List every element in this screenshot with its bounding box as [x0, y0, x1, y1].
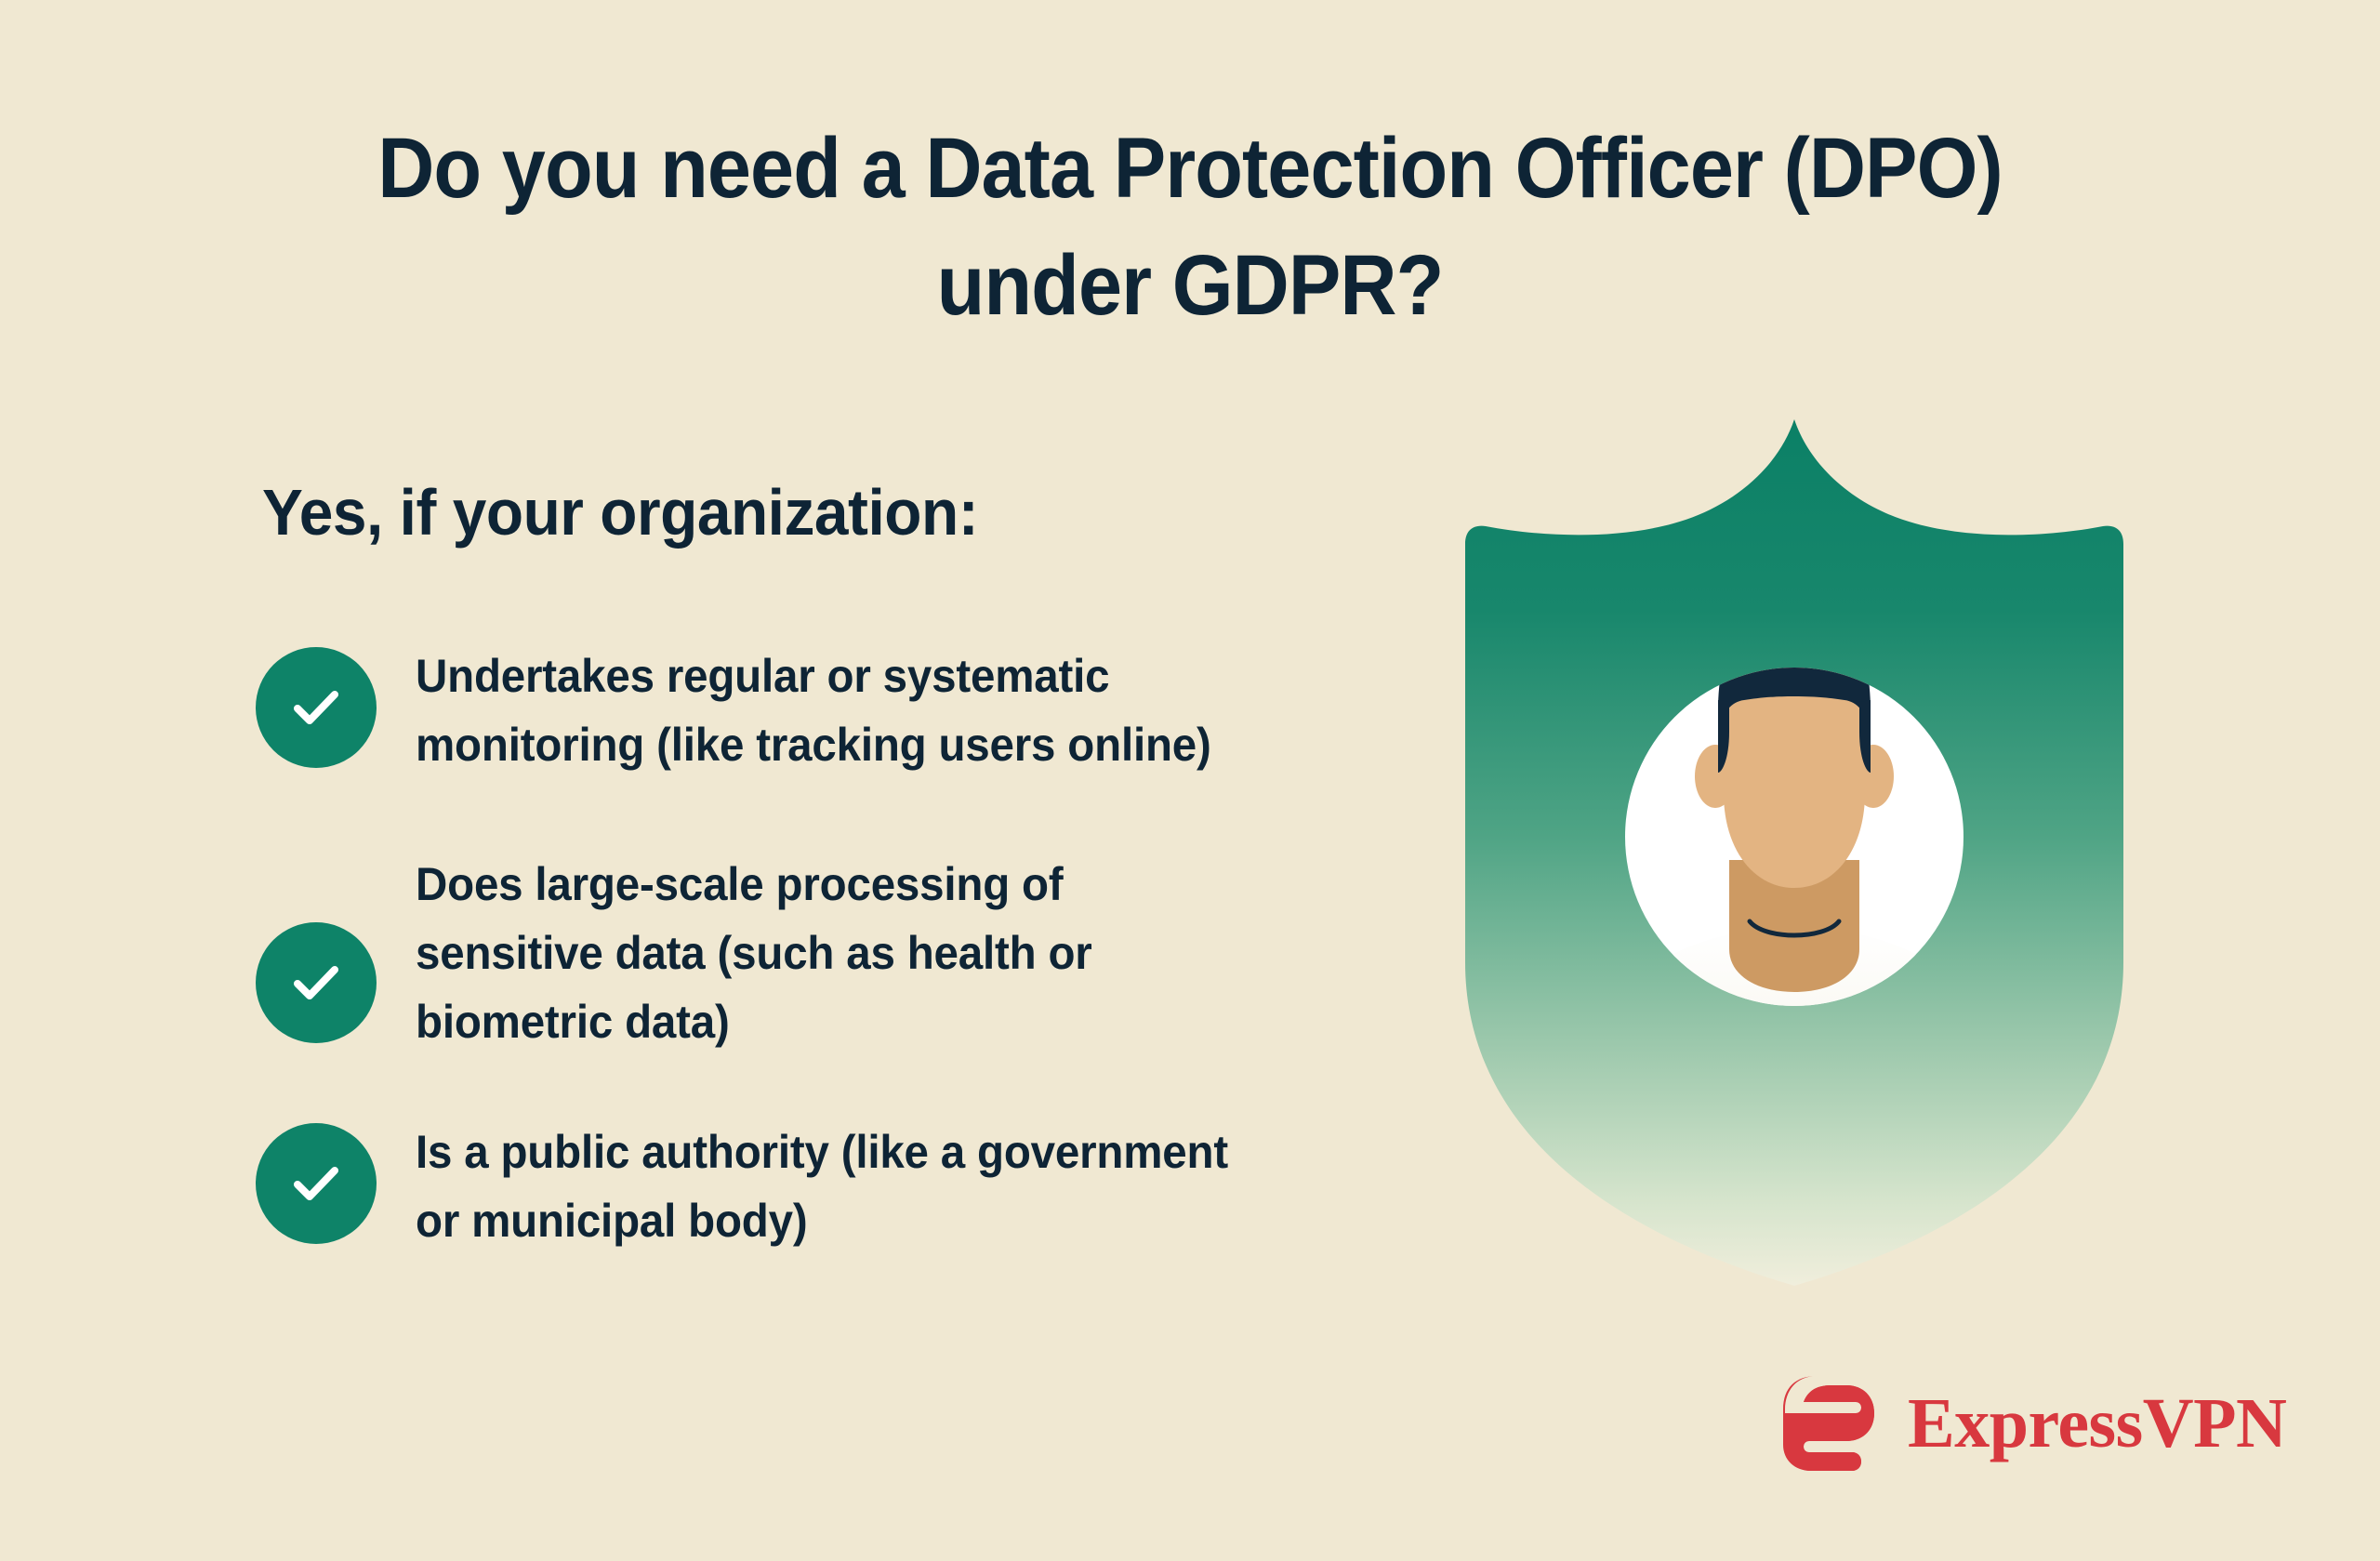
- list-item-label: Does large-scale processing of sensitive…: [416, 850, 1092, 1056]
- list-item: Undertakes regular or systematic monitor…: [256, 642, 1436, 779]
- page-title: Do you need a Data Protection Officer (D…: [0, 110, 2380, 344]
- list-item-label: Undertakes regular or systematic monitor…: [416, 642, 1211, 779]
- criteria-list: Undertakes regular or systematic monitor…: [256, 642, 1436, 1322]
- subheading: Yes, if your organization:: [262, 470, 978, 555]
- list-item-label: Is a public authority (like a government…: [416, 1118, 1228, 1255]
- check-icon: [256, 1123, 377, 1244]
- expressvpn-logo: ExpressVPN: [1783, 1372, 2286, 1475]
- check-icon: [256, 647, 377, 768]
- shield-with-person-illustration: [1450, 404, 2138, 1297]
- expressvpn-e-mark-icon: [1783, 1372, 1884, 1475]
- check-icon: [256, 922, 377, 1043]
- list-item: Is a public authority (like a government…: [256, 1118, 1436, 1255]
- list-item: Does large-scale processing of sensitive…: [256, 850, 1436, 1056]
- title-line-2: under GDPR?: [95, 227, 2284, 344]
- infographic-canvas: Do you need a Data Protection Officer (D…: [0, 0, 2380, 1561]
- title-line-1: Do you need a Data Protection Officer (D…: [95, 110, 2284, 227]
- logo-wordmark: ExpressVPN: [1908, 1388, 2286, 1459]
